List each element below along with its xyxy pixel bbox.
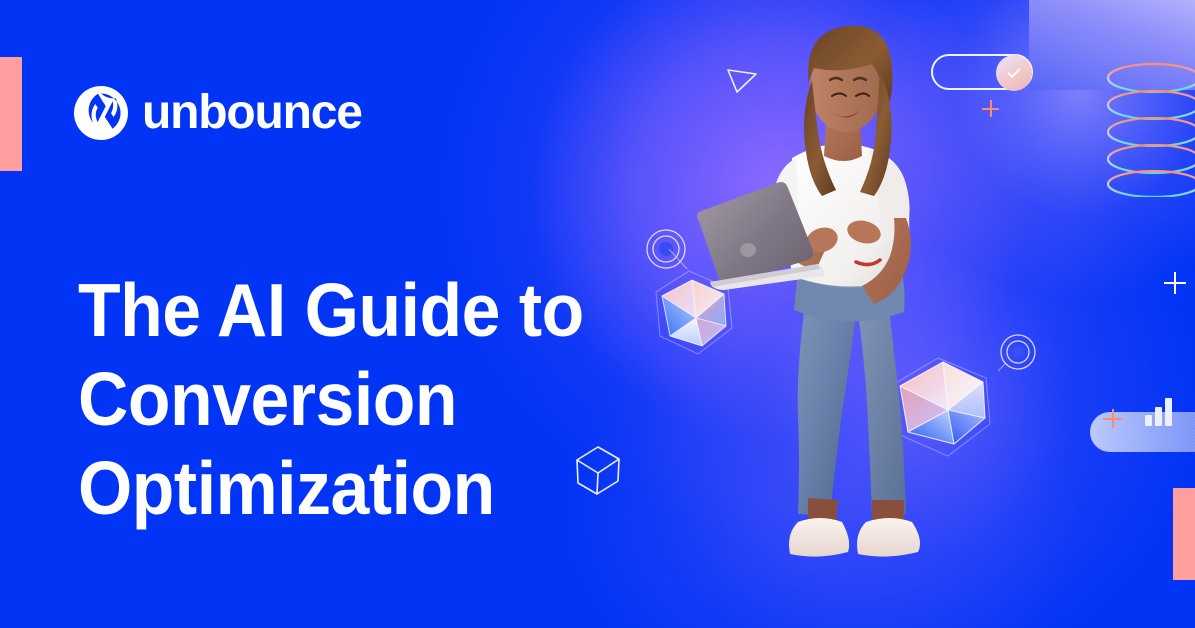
- spiral-coil-graphic: [1098, 62, 1195, 197]
- check-icon: [1005, 64, 1023, 82]
- unbounce-ai-guide-banner: unbounce The AI Guide to Conversion Opti…: [0, 0, 1195, 628]
- headline-line-2: Conversion: [78, 355, 562, 444]
- headline-line-1: The AI Guide to: [78, 266, 562, 355]
- toggle-knob[interactable]: [996, 55, 1032, 91]
- page-title: The AI Guide to Conversion Optimization: [78, 266, 562, 533]
- bar-chart-icon: [1145, 398, 1175, 426]
- bar-3: [1165, 398, 1172, 426]
- brand-name: unbounce: [142, 89, 362, 137]
- accent-bar-left: [0, 57, 22, 171]
- wireframe-cube-icon: [572, 442, 624, 496]
- ripple-circle-icon-right: [998, 333, 1038, 373]
- plus-icon-coral-bottom: [1103, 409, 1122, 428]
- accent-bar-right: [1173, 488, 1195, 580]
- plus-icon-coral-top: [982, 100, 999, 117]
- unbounce-circle-slash-logo: [74, 86, 128, 140]
- plus-icon-white-right: [1164, 272, 1186, 294]
- woman-holding-laptop-photo: [680, 18, 980, 578]
- headline-line-3: Optimization: [78, 444, 562, 533]
- bar-2: [1155, 407, 1162, 426]
- bar-1: [1145, 415, 1152, 426]
- brand-logo[interactable]: unbounce: [74, 86, 362, 140]
